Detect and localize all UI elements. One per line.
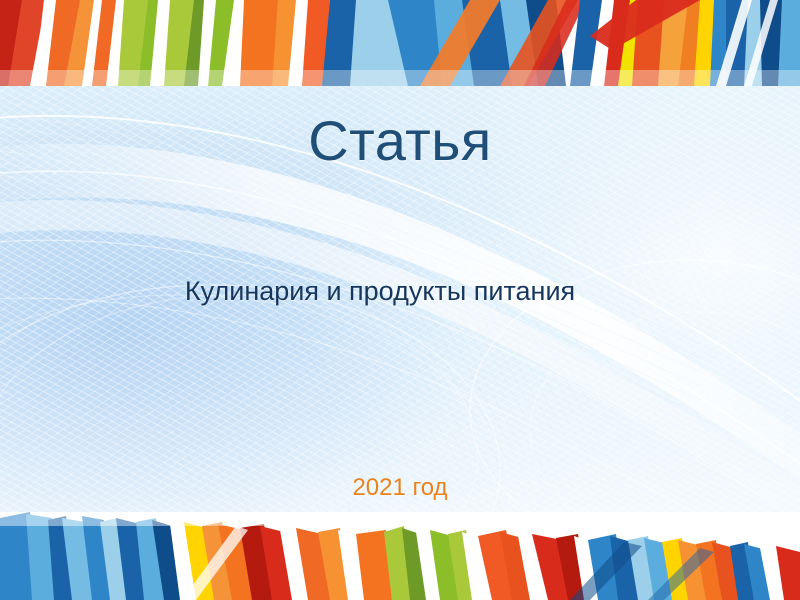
slide-title: Статья [0, 112, 800, 171]
presentation-slide: Статья Кулинария и продукты питания 2021… [0, 0, 800, 600]
geometric-shards-top [0, 0, 800, 86]
slide-subtitle: Кулинария и продукты питания [150, 272, 610, 311]
slide-year: 2021 год [0, 474, 800, 503]
geometric-shards-bottom [0, 512, 800, 600]
